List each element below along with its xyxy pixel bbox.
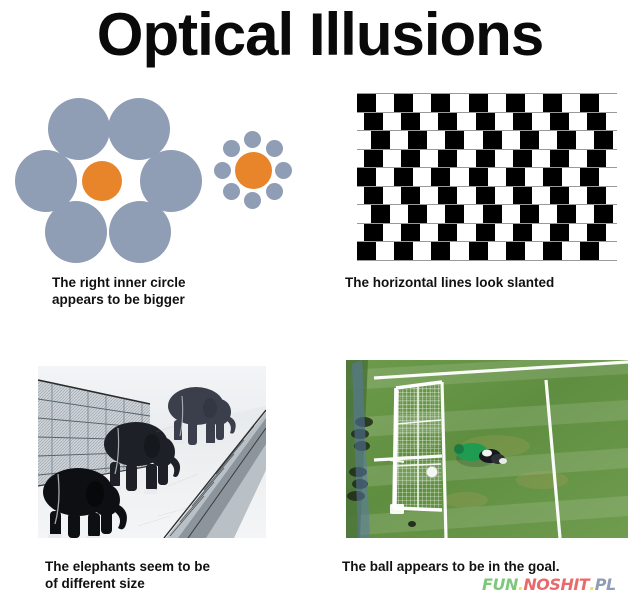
center-circle-left	[82, 161, 122, 201]
elephants-image	[38, 366, 266, 538]
cafe-wall-tile	[469, 168, 488, 186]
surrounding-circle	[214, 162, 231, 179]
surrounding-circle	[48, 98, 110, 160]
cafe-wall-row	[357, 167, 617, 186]
cafe-wall-row	[357, 112, 617, 131]
cafe-wall-tile	[476, 113, 495, 131]
cafe-wall-row	[357, 149, 617, 168]
caption-cafewall: The horizontal lines look slanted	[345, 274, 635, 291]
caption-line: of different size	[45, 575, 295, 592]
cafe-wall-tile	[394, 94, 413, 112]
caption-line: The right inner circle	[52, 274, 292, 291]
cafe-wall-tile	[557, 205, 576, 223]
cafe-wall-tile	[408, 205, 427, 223]
cafe-wall-tile	[394, 168, 413, 186]
watermark-letter: N	[523, 575, 536, 594]
cafe-wall-tile	[364, 150, 383, 168]
cafe-wall-tile	[401, 113, 420, 131]
cafe-wall-tile	[513, 150, 532, 168]
caption-ebbinghaus: The right inner circle appears to be big…	[52, 274, 292, 308]
cafe-wall-tile	[550, 187, 569, 205]
ebbinghaus-left-group	[12, 98, 192, 263]
cafe-wall-tile	[520, 205, 539, 223]
surrounding-circle	[109, 201, 171, 263]
cafe-wall-tile	[550, 113, 569, 131]
cafe-wall-tile	[371, 205, 390, 223]
cafe-wall-tile	[506, 94, 525, 112]
watermark-letter: P	[595, 575, 606, 594]
cafe-wall-tile	[476, 187, 495, 205]
cafe-wall-tile	[476, 150, 495, 168]
cafe-wall-row	[357, 223, 617, 242]
cafe-wall-tile	[371, 131, 390, 149]
watermark-letter: N	[505, 575, 518, 594]
cafe-wall-tile	[543, 168, 562, 186]
cafe-wall-tile	[520, 131, 539, 149]
cafe-wall-tile	[408, 131, 427, 149]
caption-soccer: The ball appears to be in the goal.	[342, 558, 612, 575]
cafe-wall-tile	[476, 224, 495, 242]
cafe-wall-tile	[357, 94, 376, 112]
cafe-wall-tile	[580, 94, 599, 112]
illusion-panel-soccer	[346, 360, 628, 538]
cafe-wall-tile	[543, 94, 562, 112]
cafe-wall-tile	[357, 242, 376, 260]
cafe-wall-row	[357, 186, 617, 205]
cafe-wall-tile	[438, 224, 457, 242]
cafe-wall-tile	[431, 242, 450, 260]
cafe-wall-tile	[357, 168, 376, 186]
cafe-wall-tile	[506, 242, 525, 260]
cafe-wall-tile	[445, 131, 464, 149]
cafe-wall-tile	[557, 131, 576, 149]
cafe-wall-tile	[401, 150, 420, 168]
caption-line: The elephants seem to be	[45, 558, 295, 575]
illusion-panel-cafewall	[357, 93, 617, 251]
cafe-wall-tile	[438, 113, 457, 131]
cafe-wall-tile	[580, 242, 599, 260]
cafe-wall-row	[357, 241, 617, 261]
cafe-wall-tile	[364, 113, 383, 131]
surrounding-circle	[223, 140, 240, 157]
surrounding-circle	[266, 140, 283, 157]
cafe-wall-tile	[445, 205, 464, 223]
illusion-panel-ebbinghaus	[0, 92, 320, 267]
watermark-letter: U	[492, 575, 505, 594]
cafe-wall-tile	[594, 131, 613, 149]
cafe-wall-tile	[513, 224, 532, 242]
cafe-wall-tile	[364, 187, 383, 205]
watermark-letter: S	[549, 575, 560, 594]
cafe-wall-tile	[587, 224, 606, 242]
surrounding-circle	[275, 162, 292, 179]
cafe-wall-tile	[513, 187, 532, 205]
cafe-wall-tile	[394, 242, 413, 260]
cafe-wall-tile	[364, 224, 383, 242]
illusion-panel-elephants	[38, 366, 266, 538]
cafe-wall-tile	[587, 187, 606, 205]
watermark-letter: L	[606, 575, 616, 594]
cafe-wall-tile	[438, 150, 457, 168]
ebbinghaus-right-group	[214, 131, 292, 209]
soccer-goal-image	[346, 360, 628, 538]
surrounding-circle	[244, 131, 261, 148]
cafe-wall-tile	[587, 150, 606, 168]
cafe-wall-tile	[401, 187, 420, 205]
cafe-wall-row	[357, 130, 617, 149]
site-watermark: FUN.NOSHIT.PL	[482, 575, 616, 594]
surrounding-circle	[223, 183, 240, 200]
cafe-wall-tile	[483, 131, 502, 149]
center-circle-right	[235, 152, 272, 189]
watermark-letter: F	[482, 575, 492, 594]
caption-elephants: The elephants seem to be of different si…	[45, 558, 295, 592]
caption-line: appears to be bigger	[52, 291, 292, 308]
watermark-letter: H	[560, 575, 573, 594]
cafe-wall-row	[357, 93, 617, 112]
cafe-wall-tile	[438, 187, 457, 205]
cafe-wall-tile	[469, 94, 488, 112]
cafe-wall-tile	[543, 242, 562, 260]
surrounding-circle	[45, 201, 107, 263]
watermark-letter: T	[579, 575, 589, 594]
watermark-letter: O	[536, 575, 549, 594]
cafe-wall-tile	[469, 242, 488, 260]
cafe-wall-row	[357, 204, 617, 223]
surrounding-circle	[244, 192, 261, 209]
cafe-wall-tile	[431, 94, 450, 112]
cafe-wall-tile	[550, 224, 569, 242]
cafe-wall-tile	[483, 205, 502, 223]
cafe-wall-tile	[587, 113, 606, 131]
cafe-wall-tile	[401, 224, 420, 242]
cafe-wall-tile	[594, 205, 613, 223]
page-title: Optical Illusions	[0, 2, 640, 68]
surrounding-circle	[266, 183, 283, 200]
cafe-wall-tile	[580, 168, 599, 186]
cafe-wall-tile	[513, 113, 532, 131]
cafe-wall-tile	[506, 168, 525, 186]
cafe-wall-tile	[431, 168, 450, 186]
cafe-wall-tile	[550, 150, 569, 168]
